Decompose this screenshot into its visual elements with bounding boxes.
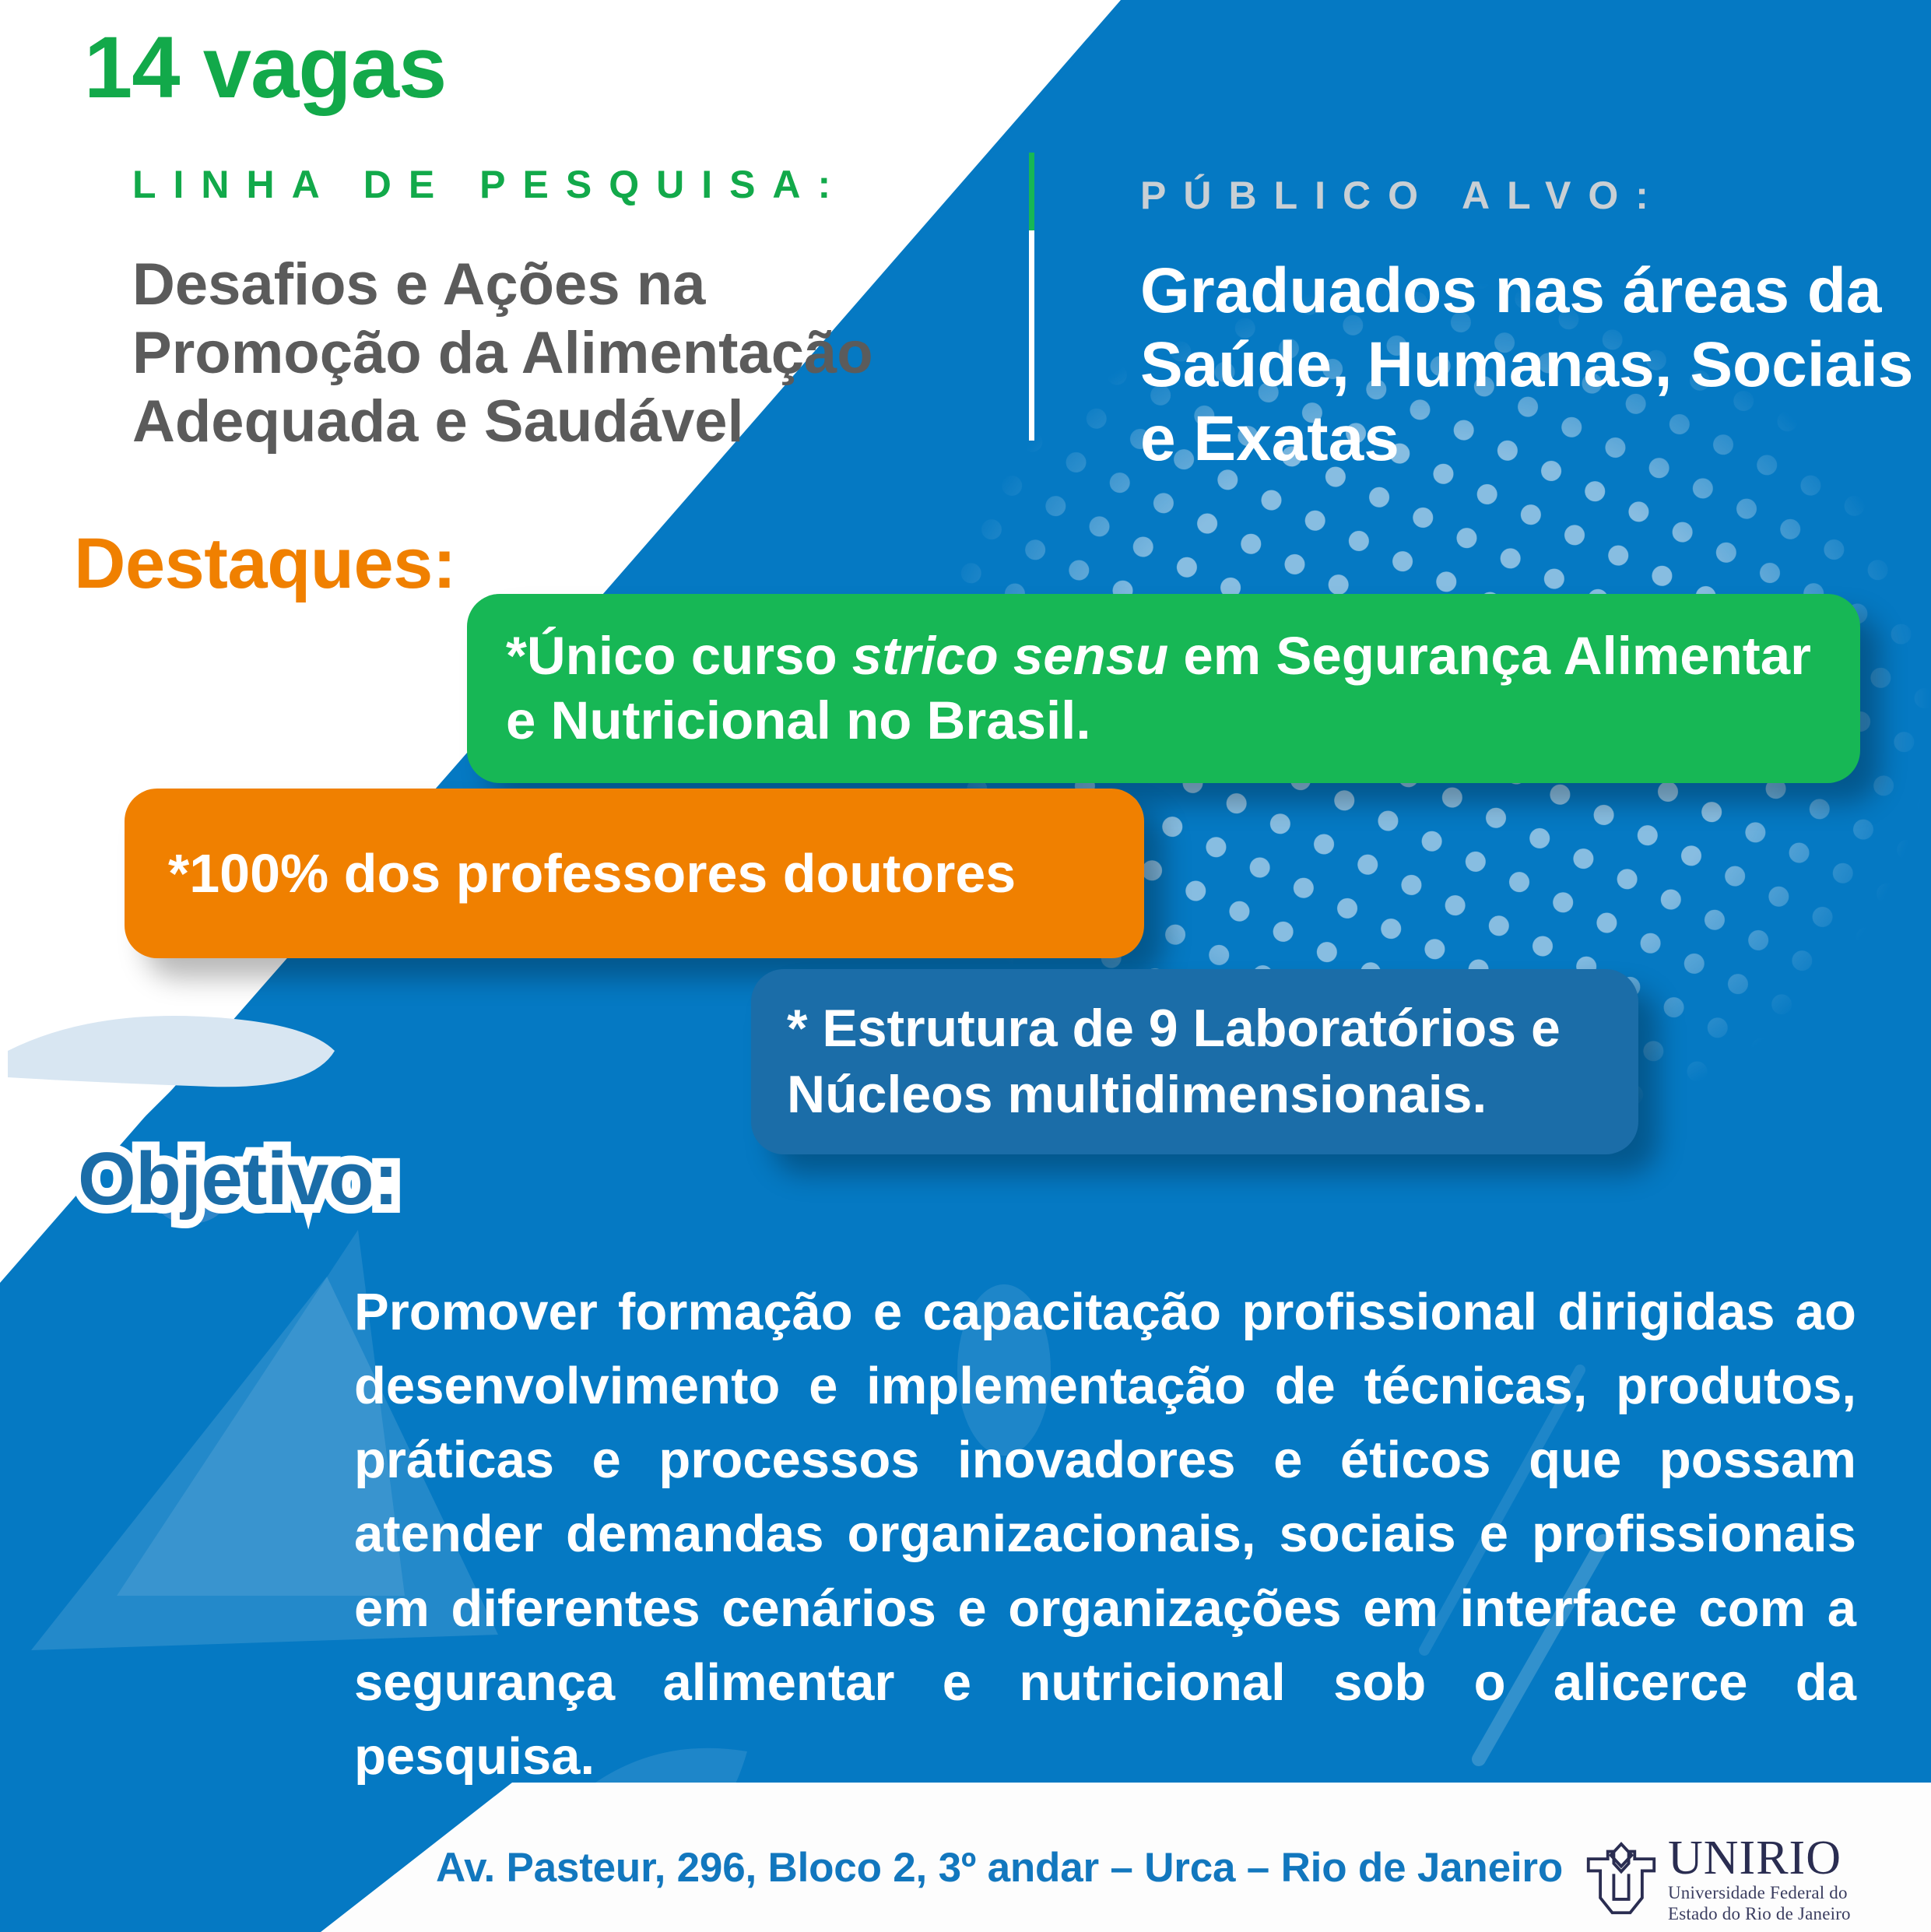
poster-canvas: 14 vagas LINHA DE PESQUISA: Desafios e A… [0,0,1931,1932]
unirio-subtitle-line2: Estado do Rio de Janeiro [1668,1903,1851,1924]
destaque-green-prefix: *Único curso [506,626,852,686]
objetivo-heading: Objetivo: [78,1136,398,1222]
unirio-wordmark: UNIRIO [1668,1835,1851,1882]
linha-de-pesquisa-label: LINHA DE PESQUISA: [132,162,848,207]
destaques-heading: Destaques: [74,523,456,605]
destaque-bubble-orange: *100% dos professores doutores [125,789,1144,958]
footer-address: Av. Pasteur, 296, Bloco 2, 3º andar – Ur… [436,1844,1563,1892]
divider-line-green [1029,153,1034,230]
unirio-logo-text: UNIRIO Universidade Federal do Estado do… [1668,1835,1851,1924]
vagas-count: 14 vagas [84,22,446,114]
destaque-blue-text: * Estrutura de 9 Laboratórios e Núcleos … [787,996,1607,1128]
destaque-bubble-blue: * Estrutura de 9 Laboratórios e Núcleos … [751,969,1638,1154]
destaque-bubble-green: *Único curso strico sensu em Segurança A… [467,594,1860,783]
destaque-orange-text: *100% dos professores doutores [168,841,1016,906]
destaque-green-text: *Único curso strico sensu em Segurança A… [506,624,1824,753]
publico-alvo-value: Graduados nas áreas da Saúde, Humanas, S… [1140,254,1919,476]
objetivo-paragraph: Promover formação e capacitação profissi… [354,1275,1856,1793]
destaque-green-emphasis: strico sensu [852,626,1169,686]
publico-alvo-label: PÚBLICO ALVO: [1140,173,1666,218]
unirio-emblem-icon [1584,1841,1659,1919]
unirio-subtitle-line1: Universidade Federal do [1668,1882,1851,1903]
divider-line-white [1029,230,1034,441]
linha-de-pesquisa-value: Desafios e Ações na Promoção da Alimenta… [132,251,988,456]
unirio-logo: UNIRIO Universidade Federal do Estado do… [1584,1835,1851,1924]
